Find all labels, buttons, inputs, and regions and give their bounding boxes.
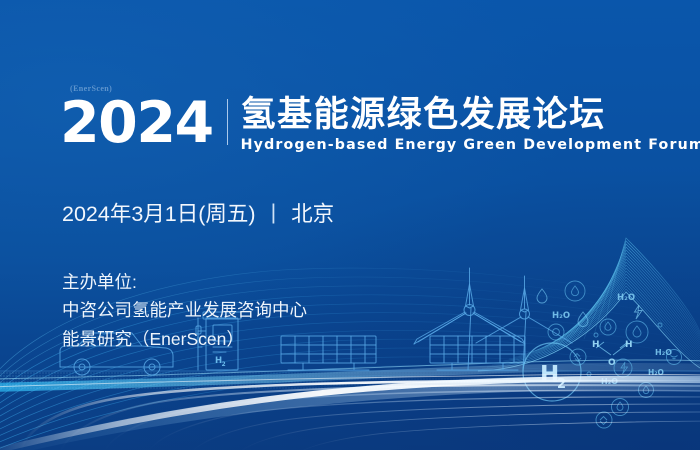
organizer-block: 主办单位: 中咨公司氢能产业发展咨询中心 能景研究（EnerScen） <box>62 268 307 353</box>
forum-title-en: Hydrogen-based Energy Green Development … <box>241 137 700 153</box>
organizer-line: 中咨公司氢能产业发展咨询中心 <box>62 296 307 324</box>
organizer-label: 主办单位: <box>62 268 307 296</box>
event-poster: H 2 H 2 H H O H₂O <box>0 0 700 450</box>
forum-title-cn: 氢基能源绿色发展论坛 <box>241 97 700 134</box>
event-meta: 2024年3月1日(周五) | 北京 <box>62 197 334 228</box>
organizer-line: 能景研究（EnerScen） <box>62 325 307 353</box>
title-divider <box>227 99 228 145</box>
headline-block: 2024 氢基能源绿色发展论坛 Hydrogen-based Energy Gr… <box>60 96 700 153</box>
event-date: 2024年3月1日(周五) <box>62 197 256 228</box>
meta-separator: | <box>271 200 277 225</box>
event-year: 2024 <box>60 96 213 152</box>
title-stack: 氢基能源绿色发展论坛 Hydrogen-based Energy Green D… <box>241 96 700 153</box>
event-location: 北京 <box>291 197 334 228</box>
